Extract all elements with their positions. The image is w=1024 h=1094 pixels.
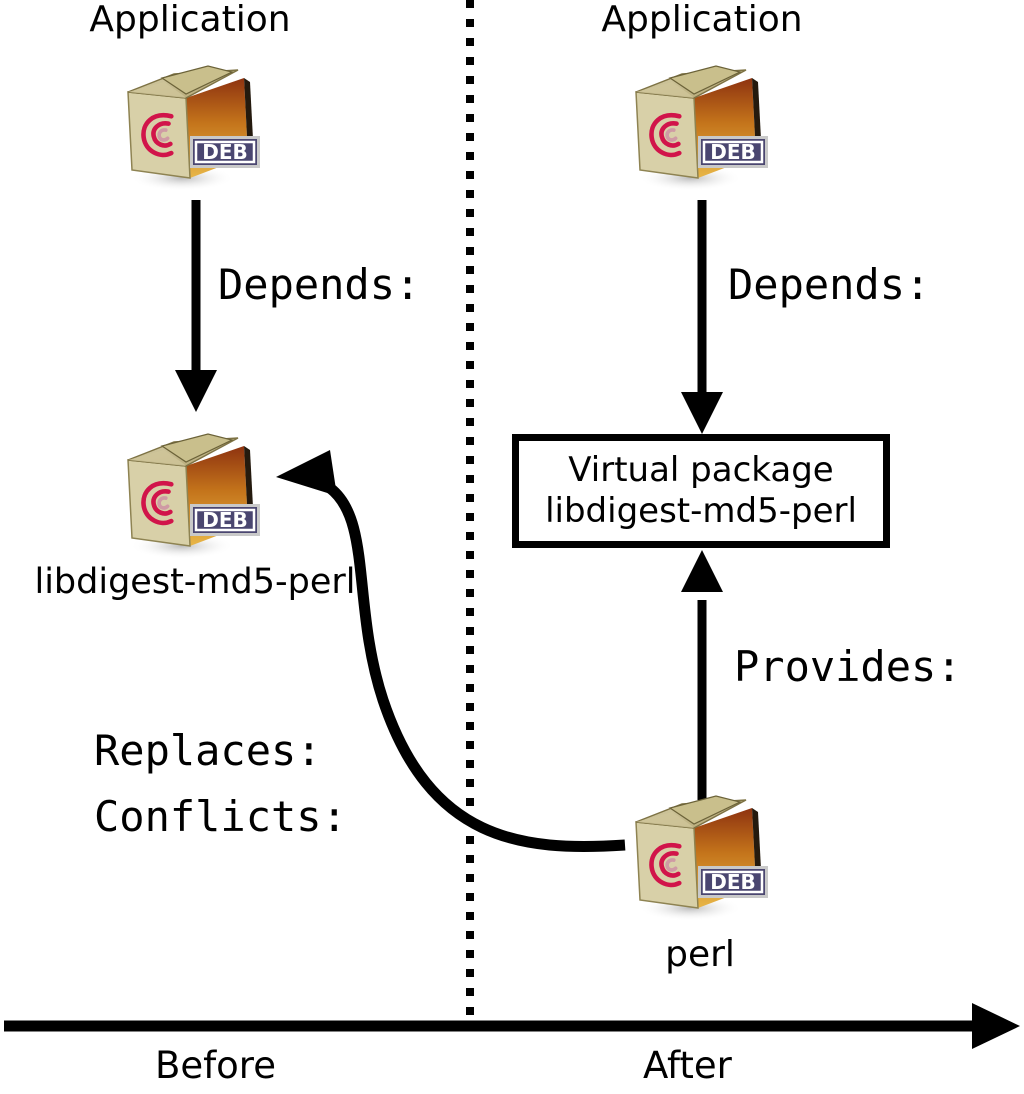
debian-package-icon-application-before: DEB	[112, 52, 272, 200]
debian-package-icon-application-after: DEB	[620, 52, 780, 200]
debian-package-icon-libdigest-md5-perl: DEB	[112, 420, 272, 568]
before-column-heading: Application	[60, 0, 320, 40]
virtual-package-line1: Virtual package	[568, 450, 833, 491]
depends-label-before: Depends:	[218, 262, 420, 308]
virtual-package-line2: libdigest-md5-perl	[545, 491, 857, 532]
provides-label: Provides:	[734, 644, 962, 690]
debian-package-icon-perl: DEB	[620, 782, 780, 930]
timeline-axis	[4, 1003, 1020, 1049]
depends-arrow-before	[175, 200, 217, 412]
diagram-canvas: Application	[0, 0, 1024, 1094]
svg-text:DEB: DEB	[202, 140, 248, 164]
after-column-heading: Application	[572, 0, 832, 40]
timeline-label-after: After	[643, 1046, 732, 1086]
package-label-libdigest-md5-perl: libdigest-md5-perl	[0, 562, 390, 602]
depends-arrow-after	[681, 200, 723, 434]
depends-label-after: Depends:	[728, 262, 930, 308]
replaces-label: Replaces:	[94, 728, 322, 774]
conflicts-label: Conflicts:	[94, 794, 347, 840]
package-label-perl: perl	[570, 935, 830, 975]
provides-arrow	[681, 550, 723, 800]
deb-badge: DEB	[190, 136, 260, 168]
svg-text:DEB: DEB	[710, 140, 756, 164]
virtual-package-box: Virtual package libdigest-md5-perl	[512, 434, 890, 548]
deb-badge: DEB	[190, 504, 260, 536]
deb-badge: DEB	[698, 866, 768, 898]
timeline-label-before: Before	[155, 1046, 276, 1086]
svg-text:DEB: DEB	[710, 870, 756, 894]
svg-text:DEB: DEB	[202, 508, 248, 532]
deb-badge: DEB	[698, 136, 768, 168]
